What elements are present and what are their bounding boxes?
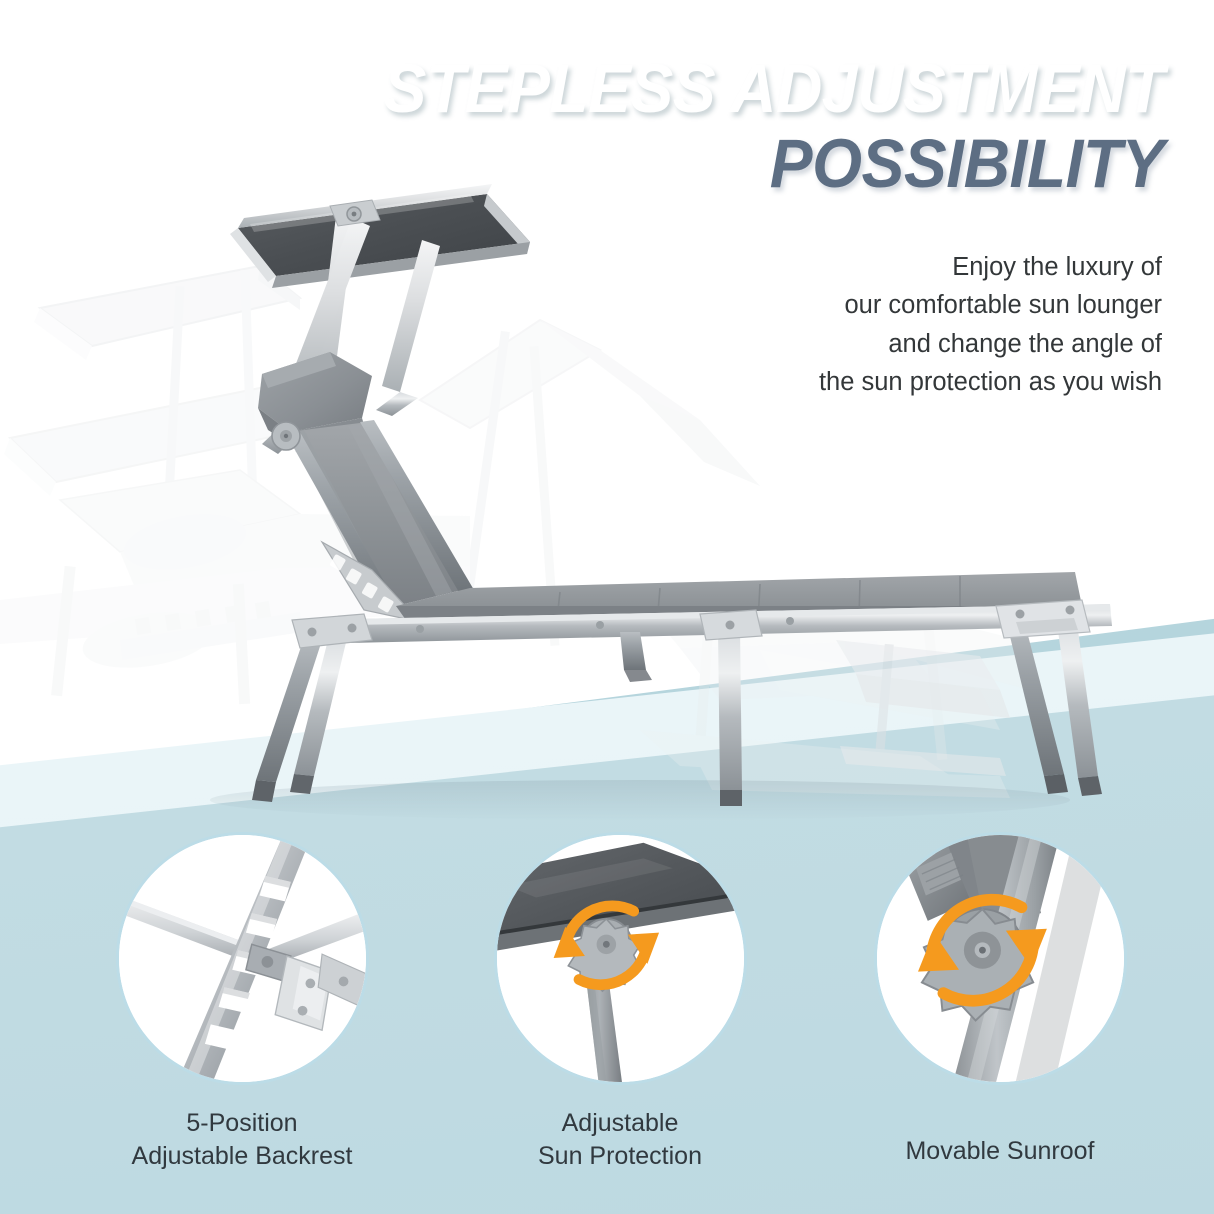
feature-movable-sunroof[interactable]: Movable Sunroof: [850, 832, 1150, 1168]
feature-image-circle-2: [494, 832, 747, 1085]
sun-lounger-with-canopy: [0, 170, 1214, 860]
sunroof-canopy: [230, 184, 530, 288]
feature-label-2-line-1: Adjustable: [470, 1107, 770, 1140]
feature-label-2: Adjustable Sun Protection: [470, 1107, 770, 1173]
feature-adjustable-sun-protection[interactable]: Adjustable Sun Protection: [470, 832, 770, 1173]
canopy-knob-rotation-icon: [497, 835, 744, 1082]
feature-label-3-line-1: Movable Sunroof: [850, 1135, 1150, 1168]
feature-image-circle-3: [874, 832, 1127, 1085]
notched-backrest-bracket-icon: [119, 835, 366, 1082]
star-knob-rotation-icon: [877, 835, 1124, 1082]
ghosted-alternate-positions: [0, 266, 1030, 798]
feature-image-circle-1: [116, 832, 369, 1085]
front-leg: [252, 614, 372, 802]
poster-canvas: STEPLESS ADJUSTMENT POSSIBILITY Enjoy th…: [0, 0, 1214, 1214]
feature-label-3: Movable Sunroof: [850, 1135, 1150, 1168]
feature-label-2-line-2: Sun Protection: [470, 1140, 770, 1173]
rear-leg: [996, 600, 1102, 796]
feature-label-1: 5-Position Adjustable Backrest: [92, 1107, 392, 1173]
feature-callouts: 5-Position Adjustable Backrest: [0, 824, 1214, 1214]
feature-five-position-backrest[interactable]: 5-Position Adjustable Backrest: [92, 832, 392, 1173]
feature-label-1-line-1: 5-Position: [92, 1107, 392, 1140]
page-title-line-1: STEPLESS ADJUSTMENT: [81, 56, 1164, 122]
feature-label-1-line-2: Adjustable Backrest: [92, 1140, 392, 1173]
